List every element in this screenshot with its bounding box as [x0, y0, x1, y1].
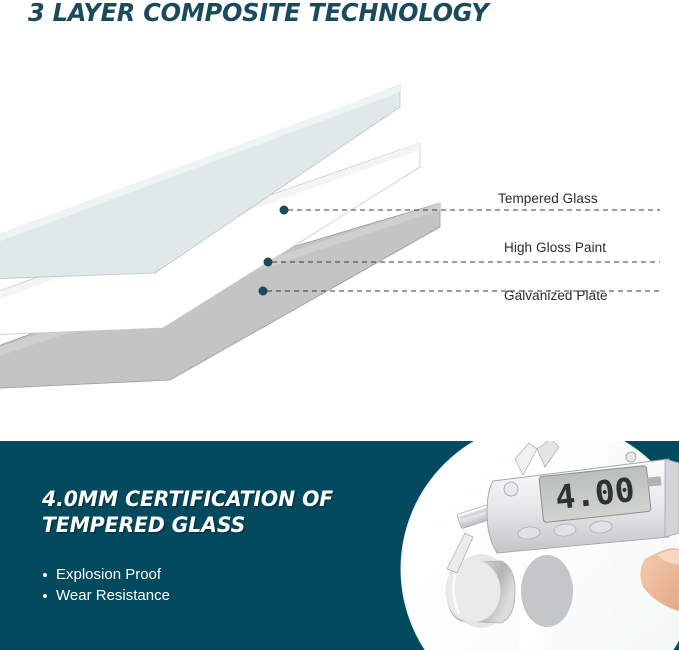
certification-panel: 4.00 4.0MM CERTIFICATION OF TEMPERED	[0, 441, 679, 650]
page-title: 3 LAYER COMPOSITE TECHNOLOGY	[28, 0, 489, 27]
caliper-reading: 4.00	[553, 470, 636, 517]
rear-standoff	[521, 555, 573, 627]
callout-label-galvanized-plate: Galvanized Plate	[504, 288, 608, 303]
caliper-measuring-glass-photo: 4.00	[369, 441, 679, 650]
feature-list: Explosion Proof Wear Resistance	[42, 564, 170, 606]
callout-label-high-gloss-paint: High Gloss Paint	[504, 240, 606, 255]
panel-heading-line-1: 4.0MM CERTIFICATION OF	[42, 486, 333, 512]
list-item: Wear Resistance	[42, 585, 170, 606]
list-item: Explosion Proof	[42, 564, 170, 585]
panel-heading: 4.0MM CERTIFICATION OF TEMPERED GLASS	[42, 486, 333, 538]
panel-heading-line-2: TEMPERED GLASS	[42, 512, 333, 538]
callout-label-tempered-glass: Tempered Glass	[498, 191, 598, 206]
